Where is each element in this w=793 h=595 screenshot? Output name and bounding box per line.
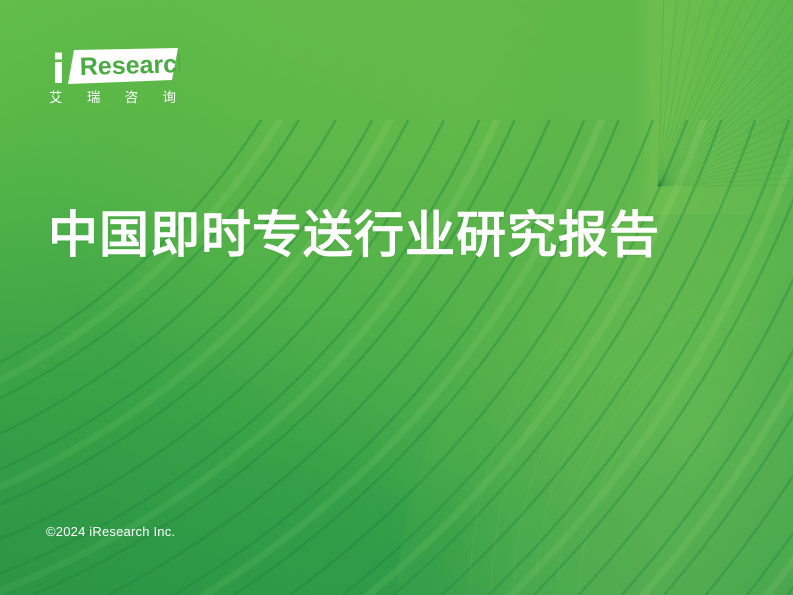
logo-cn-char-2: 瑞	[87, 91, 101, 106]
logo-block: Research 艾 瑞 咨 询	[46, 48, 196, 106]
logo-cn-char-1: 艾	[49, 91, 63, 106]
logo-i-stem	[55, 62, 62, 83]
page-title: 中国即时专送行业研究报告	[48, 206, 660, 265]
iresearch-logo-svg: Research	[46, 48, 180, 86]
logo-cn-char-4: 询	[162, 91, 176, 106]
logo-chinese-name: 艾 瑞 咨 询	[49, 91, 176, 106]
logo-research-text: Research	[79, 50, 180, 81]
iresearch-logo: Research	[46, 48, 180, 86]
logo-i-dot	[55, 53, 62, 60]
copyright-notice: ©2024 iResearch Inc.	[46, 524, 175, 539]
report-cover: Research 艾 瑞 咨 询 中国即时专送行业研究报告 ©2024 iRes…	[0, 0, 793, 595]
logo-cn-char-3: 咨	[125, 91, 139, 106]
